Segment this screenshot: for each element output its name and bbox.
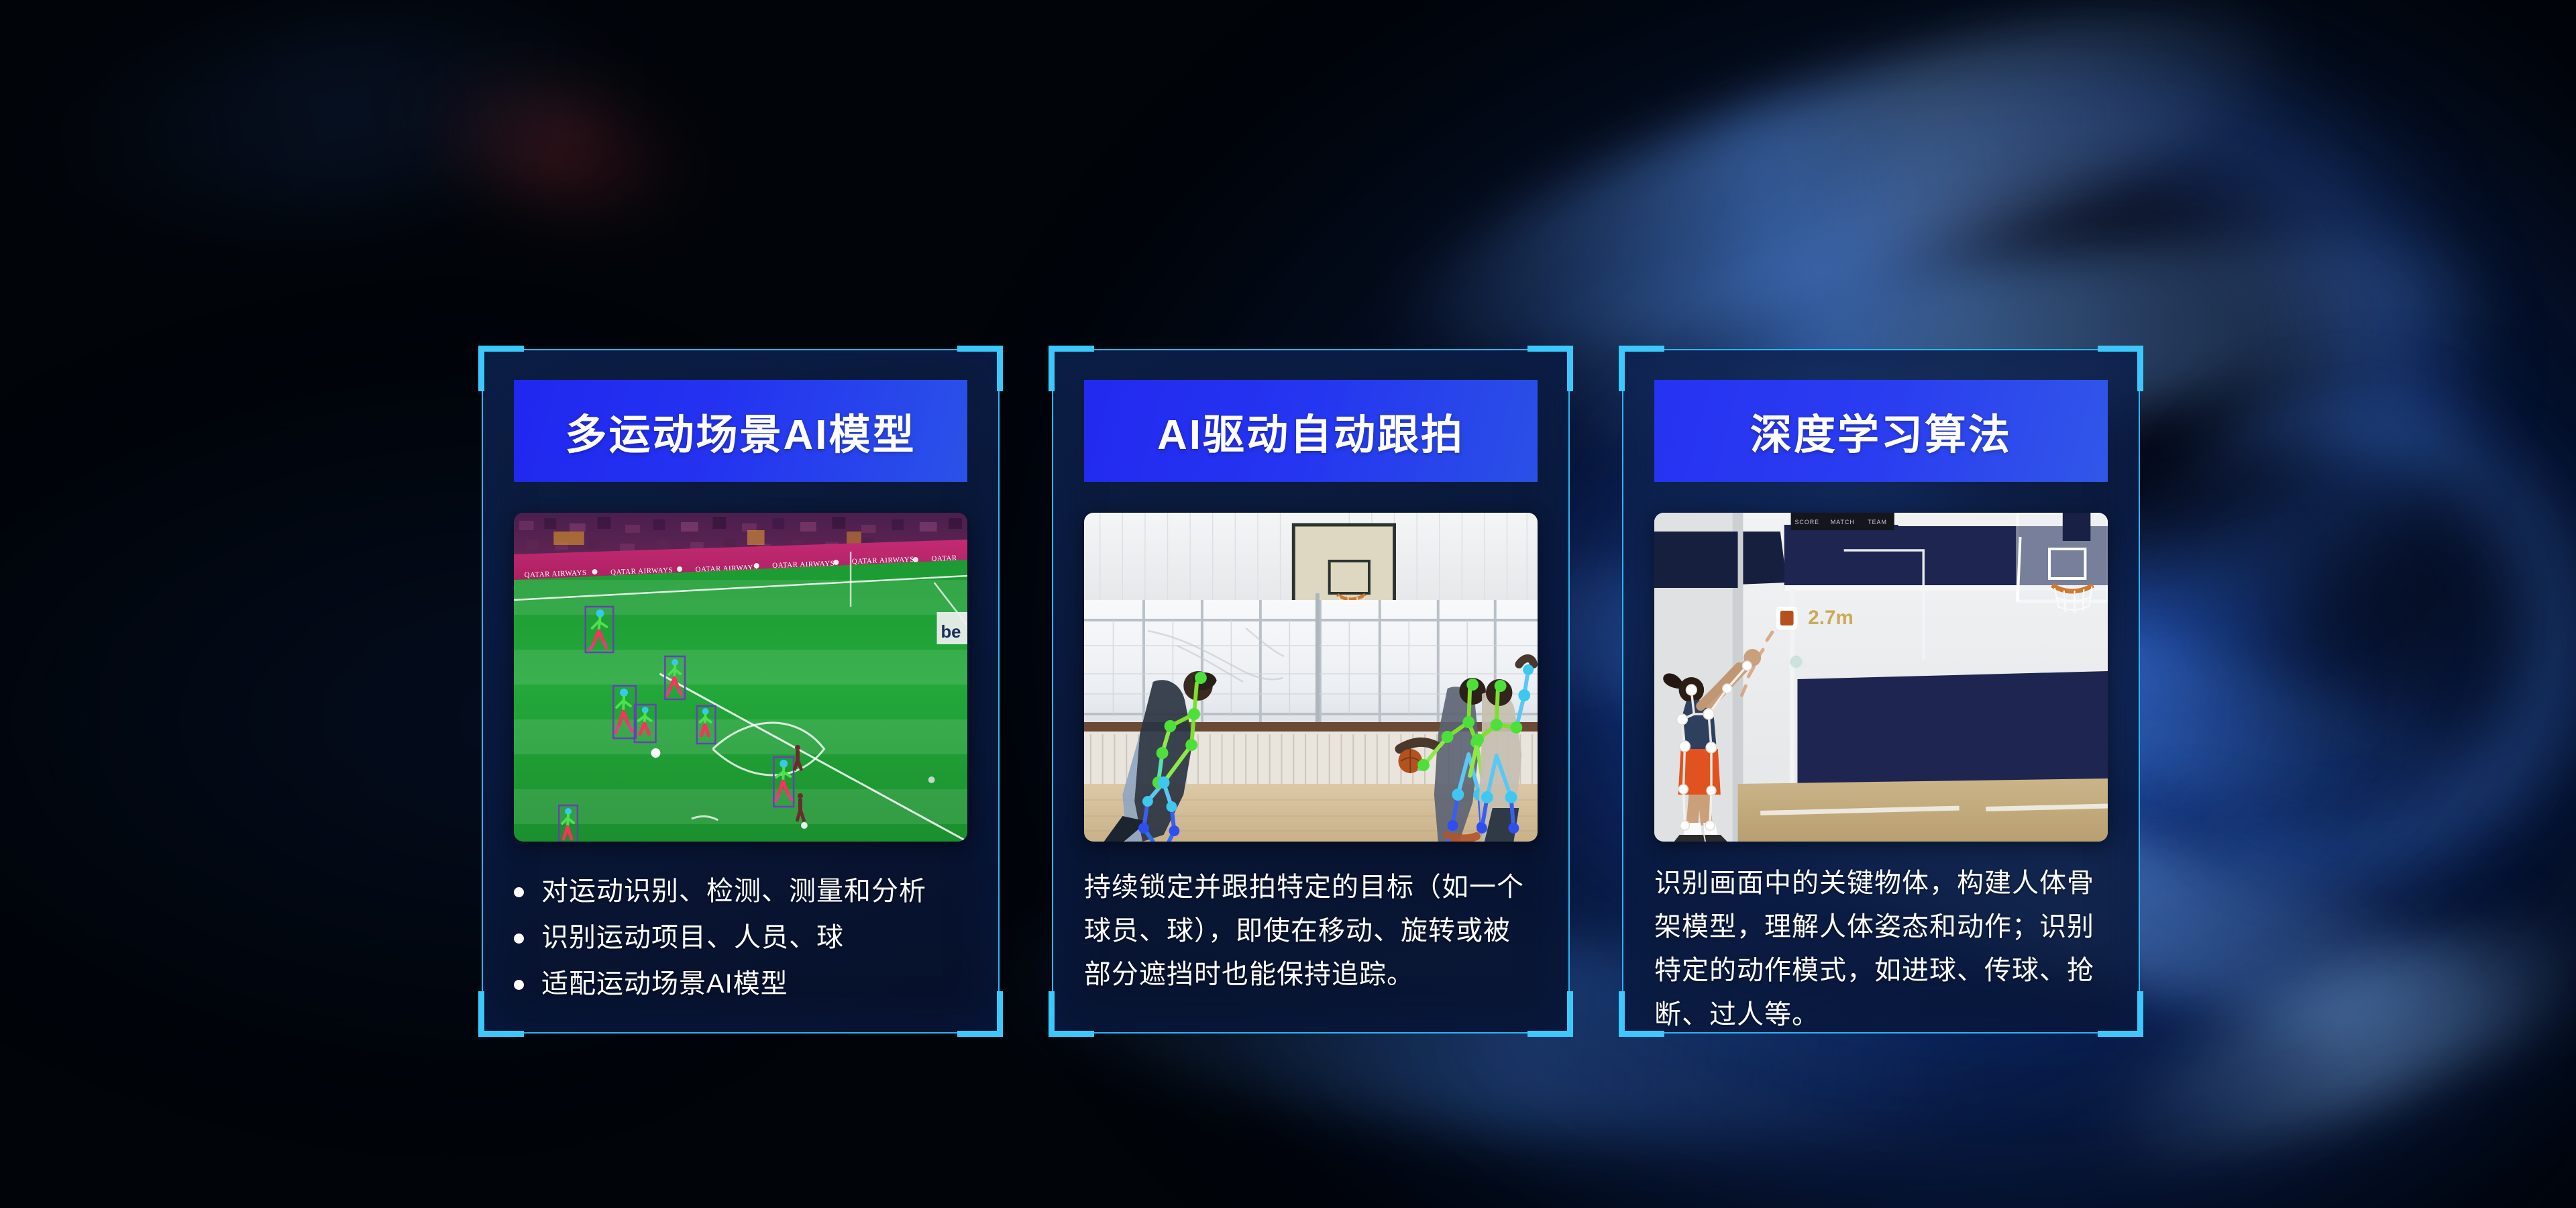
bullet-text: 适配运动场景AI模型 bbox=[541, 962, 788, 1006]
svg-text:SCORE: SCORE bbox=[1795, 519, 1820, 525]
list-item: 识别运动项目、人员、球 bbox=[514, 916, 967, 960]
bullet-text: 识别运动项目、人员、球 bbox=[541, 916, 844, 960]
bullet-dot-icon bbox=[514, 934, 524, 944]
feature-card-multi-sport-ai-model[interactable]: 多运动场景AI模型 bbox=[482, 349, 1000, 1034]
list-item: 对运动识别、检测、测量和分析 bbox=[514, 870, 967, 913]
measurement-label: 2.7m bbox=[1808, 607, 1854, 629]
svg-text:TEAM: TEAM bbox=[1868, 519, 1887, 525]
feature-card-ai-auto-tracking-shot[interactable]: AI驱动自动跟拍 bbox=[1052, 349, 1570, 1034]
bullet-dot-icon bbox=[514, 980, 524, 990]
card-description: 识别画面中的关键物体，构建人体骨架模型，理解人体姿态和动作；识别特定的动作模式，… bbox=[1654, 862, 2108, 1037]
soccer-pose-detection-thumbnail[interactable]: QATAR AIRWAYS QATAR AIRWAYS QATAR AIRWAY… bbox=[514, 513, 967, 842]
card-title-multi-sport-ai-model: 多运动场景AI模型 bbox=[514, 380, 967, 482]
card-title-ai-auto-tracking-shot: AI驱动自动跟拍 bbox=[1084, 380, 1538, 482]
feature-card-deep-learning-algorithm[interactable]: 深度学习算法 bbox=[1622, 349, 2140, 1034]
bullet-text: 对运动识别、检测、测量和分析 bbox=[541, 870, 926, 913]
list-item: 适配运动场景AI模型 bbox=[514, 962, 967, 1006]
basketball-shot-measurement-thumbnail[interactable]: SCOREMATCHTEAM bbox=[1654, 513, 2108, 842]
feature-bullet-list: 对运动识别、检测、测量和分析 识别运动项目、人员、球 适配运动场景AI模型 bbox=[514, 870, 967, 1005]
svg-text:MATCH: MATCH bbox=[1831, 519, 1855, 525]
card-description: 持续锁定并跟拍特定的目标（如一个球员、球），即使在移动、旋转或被部分遮挡时也能保… bbox=[1084, 866, 1538, 997]
svg-text:be: be bbox=[941, 623, 961, 642]
card-title-deep-learning-algorithm: 深度学习算法 bbox=[1654, 380, 2108, 482]
bullet-dot-icon bbox=[514, 887, 524, 897]
basketball-skeleton-tracking-thumbnail[interactable] bbox=[1084, 513, 1538, 842]
feature-card-row: 多运动场景AI模型 bbox=[482, 349, 2140, 1034]
